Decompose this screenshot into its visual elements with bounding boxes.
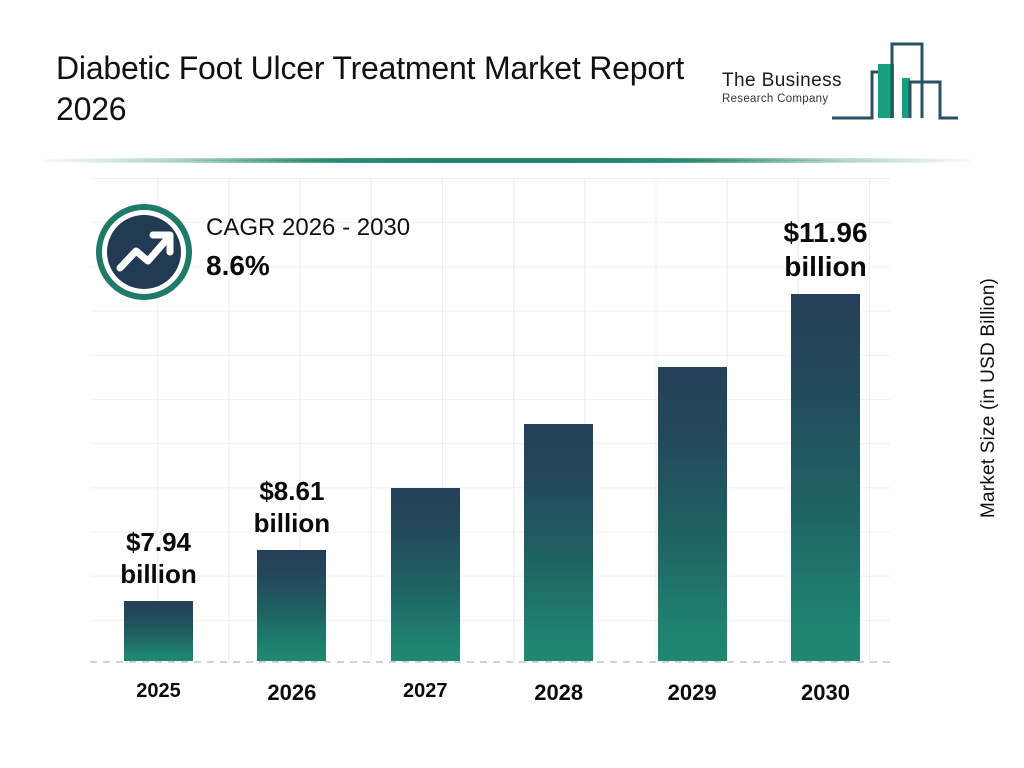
- y-axis-title: Market Size (in USD Billion): [978, 278, 1000, 518]
- page-title: Diabetic Foot Ulcer Treatment Market Rep…: [56, 48, 716, 130]
- cagr-range-label: CAGR 2026 - 2030: [206, 214, 410, 242]
- cagr-text-block: CAGR 2026 - 2030 8.6%: [206, 214, 410, 282]
- trending-up-icon: [96, 204, 192, 300]
- x-tick-2027: 2027: [365, 680, 485, 703]
- x-tick-2025: 2025: [99, 680, 219, 703]
- bar-2029: [658, 367, 727, 661]
- page-header: Diabetic Foot Ulcer Treatment Market Rep…: [0, 0, 1024, 150]
- value-label-2026: $8.61billion: [217, 476, 367, 539]
- value-label-2025: $7.94billion: [84, 527, 234, 590]
- bar-2025: [124, 601, 193, 661]
- bar-2028: [524, 424, 593, 661]
- company-logo: The Business Research Company: [722, 32, 972, 132]
- x-tick-2030: 2030: [766, 680, 886, 706]
- x-tick-2029: 2029: [632, 680, 752, 706]
- bar-2030: [791, 294, 860, 661]
- x-tick-2028: 2028: [499, 680, 619, 706]
- cagr-callout: CAGR 2026 - 2030 8.6%: [96, 204, 496, 304]
- bar-2027: [391, 488, 460, 661]
- header-divider: [44, 158, 970, 163]
- bar-2026: [257, 550, 326, 661]
- bar-chart-logo-mark: [830, 32, 960, 132]
- value-label-2030: $11.96billion: [751, 216, 901, 284]
- x-tick-2026: 2026: [232, 680, 352, 706]
- chart-baseline: [90, 661, 890, 663]
- cagr-value-label: 8.6%: [206, 250, 410, 282]
